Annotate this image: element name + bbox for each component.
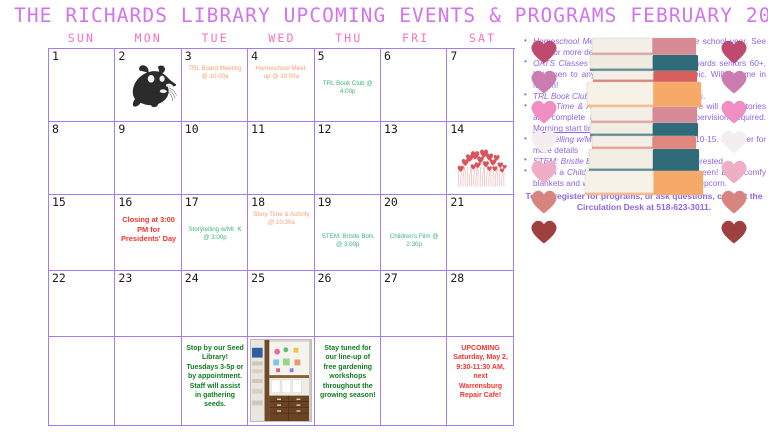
calendar-day-14[interactable]: 14 xyxy=(447,122,513,195)
day-event-text: UPCOMING Saturday, May 2, 9:30-11:30 AM,… xyxy=(450,338,510,400)
day-number: 15 xyxy=(52,196,112,209)
day-number: 20 xyxy=(384,196,444,209)
day-number: 24 xyxy=(185,272,245,285)
calendar-day-25[interactable]: 25 xyxy=(248,271,314,337)
heart-icon xyxy=(718,160,750,185)
heart-icon xyxy=(718,220,750,245)
day-number: 28 xyxy=(450,272,510,285)
day-event-text: Closing at 3:00 PM for Presidents' Day xyxy=(118,215,178,244)
heart-icon xyxy=(528,70,560,95)
day-event-text: Children's Film @ 2:30p xyxy=(384,233,444,249)
calendar-note-cell[interactable]: Stop by our Seed Library! Tuesdays 3-5p … xyxy=(182,337,248,426)
calendar-day-1[interactable]: 1 xyxy=(49,49,115,122)
day-number: 13 xyxy=(384,123,444,136)
calendar-day-10[interactable]: 10 xyxy=(182,122,248,195)
day-event-text: Storytelling w/Mr. K @ 3:00p xyxy=(185,226,245,242)
book-stack-icon xyxy=(584,36,704,208)
calendar-day-28[interactable]: 28 xyxy=(447,271,513,337)
day-event-text: Stop by our Seed Library! Tuesdays 3-5p … xyxy=(185,338,245,410)
book-stack-svg xyxy=(584,36,704,208)
calendar-day-3[interactable]: 3TRL Board Meeting @ 10:00a xyxy=(182,49,248,122)
dow-label-sat: SAT xyxy=(449,31,516,47)
calendar-day-17[interactable]: 17Storytelling w/Mr. K @ 3:00p xyxy=(182,195,248,271)
day-number: 12 xyxy=(318,123,378,136)
day-number: 9 xyxy=(118,123,178,136)
calendar-day-16[interactable]: 16Closing at 3:00 PM for Presidents' Day xyxy=(115,195,181,271)
calendar-day-7[interactable]: 7 xyxy=(447,49,513,122)
calendar: SUNMONTUEWEDTHUFRISAT 12 3TRL Board Meet… xyxy=(6,31,516,427)
heart-column-left xyxy=(528,40,562,250)
day-number: 10 xyxy=(185,123,245,136)
calendar-week-row: 12 3TRL Board Meeting @ 10:00a4Homeschoo… xyxy=(49,49,515,122)
dow-label-wed: WED xyxy=(249,31,316,47)
day-event-text: Homeschool Meet-up @ 10:00a xyxy=(251,65,311,81)
heart-icon xyxy=(528,40,560,65)
calendar-day-5[interactable]: 5TRL Book Club @ 4:00p xyxy=(315,49,381,122)
calendar-week-row: 22232425262728 xyxy=(49,271,515,337)
calendar-week-row: 891011121314 xyxy=(49,122,515,195)
calendar-week-row: Stop by our Seed Library! Tuesdays 3-5p … xyxy=(49,337,515,426)
calendar-day-2[interactable]: 2 xyxy=(115,49,181,122)
heart-icon xyxy=(528,220,560,245)
day-number: 8 xyxy=(52,123,112,136)
heart-icon xyxy=(528,160,560,185)
heart-icon xyxy=(718,190,750,215)
dow-label-tue: TUE xyxy=(182,31,249,47)
calendar-day-6[interactable]: 6 xyxy=(381,49,447,122)
day-number: 16 xyxy=(118,196,178,209)
day-number: 14 xyxy=(450,123,510,136)
heart-icon xyxy=(718,100,750,125)
day-event-text: Story Time & Activity @ 10:30a xyxy=(251,211,311,227)
day-number: 1 xyxy=(52,50,112,63)
calendar-day-21[interactable]: 21 xyxy=(447,195,513,271)
calendar-day-4[interactable]: 4Homeschool Meet-up @ 10:00a xyxy=(248,49,314,122)
day-event-text: STEM: Bristle Bots @ 3:00p xyxy=(318,233,378,249)
heart-flowers-icon xyxy=(450,138,511,192)
book-stack-and-hearts-illustration xyxy=(522,36,766,212)
day-number: 11 xyxy=(251,123,311,136)
day-number: 17 xyxy=(185,196,245,209)
day-number: 6 xyxy=(384,50,444,63)
calendar-day-22[interactable]: 22 xyxy=(49,271,115,337)
seed-library-photo xyxy=(250,339,312,422)
heart-icon xyxy=(528,100,560,125)
heart-icon xyxy=(528,190,560,215)
day-of-week-header: SUNMONTUEWEDTHUFRISAT xyxy=(48,31,516,47)
day-number: 21 xyxy=(450,196,510,209)
calendar-day-13[interactable]: 13 xyxy=(381,122,447,195)
calendar-day-20[interactable]: 20Children's Film @ 2:30p xyxy=(381,195,447,271)
day-number: 22 xyxy=(52,272,112,285)
calendar-note-cell[interactable]: Stay tuned for our line-up of free garde… xyxy=(315,337,381,426)
calendar-day-27[interactable]: 27 xyxy=(381,271,447,337)
day-number: 23 xyxy=(118,272,178,285)
dow-label-sun: SUN xyxy=(48,31,115,47)
calendar-grid: 12 3TRL Board Meeting @ 10:00a4Homeschoo… xyxy=(48,48,515,426)
day-number: 26 xyxy=(318,272,378,285)
day-number: 19 xyxy=(318,196,378,209)
calendar-day-23[interactable]: 23 xyxy=(115,271,181,337)
calendar-note-cell[interactable] xyxy=(115,337,181,426)
calendar-day-9[interactable]: 9 xyxy=(115,122,181,195)
heart-icon xyxy=(718,130,750,155)
calendar-day-26[interactable]: 26 xyxy=(315,271,381,337)
calendar-day-8[interactable]: 8 xyxy=(49,122,115,195)
dow-label-thu: THU xyxy=(315,31,382,47)
day-number: 2 xyxy=(118,50,178,63)
day-event-text: TRL Board Meeting @ 10:00a xyxy=(185,65,245,81)
dow-label-fri: FRI xyxy=(382,31,449,47)
heart-column-right xyxy=(718,40,752,250)
notes-sidebar: Homeschool Meet-up meets monthly for the… xyxy=(522,36,766,428)
heart-icon xyxy=(718,70,750,95)
day-number: 3 xyxy=(185,50,245,63)
calendar-day-11[interactable]: 11 xyxy=(248,122,314,195)
day-number: 4 xyxy=(251,50,311,63)
calendar-note-cell[interactable] xyxy=(381,337,447,426)
groundhog-icon xyxy=(129,63,177,107)
day-number: 7 xyxy=(450,50,510,63)
day-number: 27 xyxy=(384,272,444,285)
dow-label-mon: MON xyxy=(115,31,182,47)
heart-icon xyxy=(528,130,560,155)
calendar-week-row: 1516Closing at 3:00 PM for Presidents' D… xyxy=(49,195,515,271)
calendar-day-19[interactable]: 19STEM: Bristle Bots @ 3:00p xyxy=(315,195,381,271)
calendar-day-12[interactable]: 12 xyxy=(315,122,381,195)
day-number: 5 xyxy=(318,50,378,63)
heart-icon xyxy=(718,40,750,65)
calendar-note-cell[interactable] xyxy=(49,337,115,426)
page-title: THE RICHARDS LIBRARY UPCOMING EVENTS & P… xyxy=(14,4,754,27)
calendar-day-15[interactable]: 15 xyxy=(49,195,115,271)
day-number: 25 xyxy=(251,272,311,285)
calendar-day-18[interactable]: 18Story Time & Activity @ 10:30a xyxy=(248,195,314,271)
calendar-day-24[interactable]: 24 xyxy=(182,271,248,337)
day-event-text: TRL Book Club @ 4:00p xyxy=(318,80,378,96)
calendar-note-cell[interactable] xyxy=(248,337,314,426)
day-event-text: Stay tuned for our line-up of free garde… xyxy=(318,338,378,400)
calendar-note-cell[interactable]: UPCOMING Saturday, May 2, 9:30-11:30 AM,… xyxy=(447,337,513,426)
day-number: 18 xyxy=(251,196,311,209)
